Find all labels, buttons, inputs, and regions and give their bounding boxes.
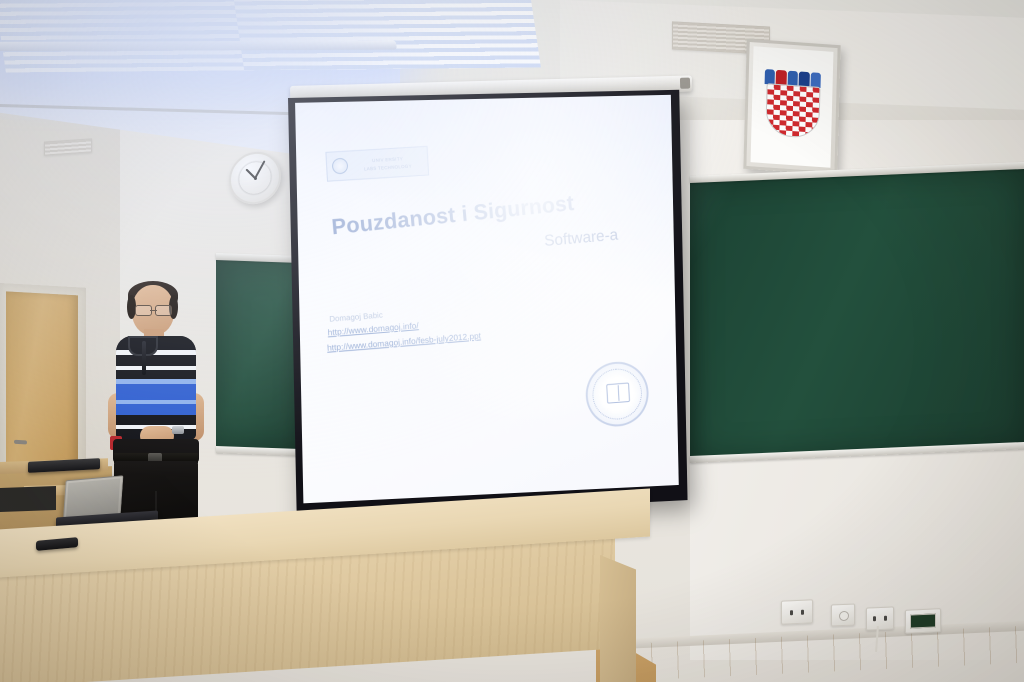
- screen-endcap: [680, 78, 690, 89]
- slide-title: Pouzdanost i Sigurnost: [331, 190, 576, 240]
- dark-panel-face: [910, 613, 936, 628]
- bench-dark-equipment: [0, 486, 56, 512]
- slide-institution-logo: UNIV ERSITY LABS TECHNOLOGY: [325, 146, 429, 182]
- desk-side-panel: [600, 555, 636, 682]
- projection-screen: UNIV ERSITY LABS TECHNOLOGY Pouzdanost i…: [288, 90, 688, 520]
- outlet-holes-icon: [790, 609, 804, 615]
- croatian-coat-of-arms-icon: [762, 69, 822, 139]
- projected-slide: UNIV ERSITY LABS TECHNOLOGY Pouzdanost i…: [295, 95, 679, 504]
- dark-panel-outlet[interactable]: [905, 608, 941, 634]
- seal-book-emblem: [606, 382, 630, 403]
- skylight-louvers-secondary: [230, 0, 541, 70]
- wristwatch-icon: [172, 426, 184, 434]
- chalkboard-right: [690, 168, 1024, 460]
- round-socket[interactable]: [831, 603, 855, 626]
- shirt-placket: [142, 341, 146, 375]
- logo-line-2: LABS TECHNOLOGY: [353, 162, 423, 171]
- skylight-rail: [0, 41, 397, 52]
- glasses-icon: [135, 306, 172, 315]
- logo-mark-icon: [332, 158, 349, 175]
- coa-checkerboard-shield: [765, 83, 820, 139]
- coat-of-arms-frame: [743, 39, 840, 176]
- round-socket-icon: [839, 611, 849, 621]
- slide-subtitle: Software-a: [544, 227, 619, 251]
- data-outlet[interactable]: [866, 606, 894, 630]
- slide-author: Domagoj Babic: [329, 311, 383, 324]
- double-power-outlet[interactable]: [781, 599, 813, 624]
- data-outlet-holes-icon: [873, 616, 887, 622]
- university-seal-icon: [584, 360, 650, 429]
- door-handle-icon[interactable]: [14, 440, 27, 445]
- slide-link-homepage[interactable]: http://www.domagoj.info/: [327, 320, 419, 337]
- classroom-photo: UNIV ERSITY LABS TECHNOLOGY Pouzdanost i…: [0, 0, 1024, 682]
- clock-center-pin: [253, 176, 256, 179]
- skylight-glass-secondary: [230, 0, 541, 70]
- logo-text-lines: UNIV ERSITY LABS TECHNOLOGY: [352, 155, 422, 172]
